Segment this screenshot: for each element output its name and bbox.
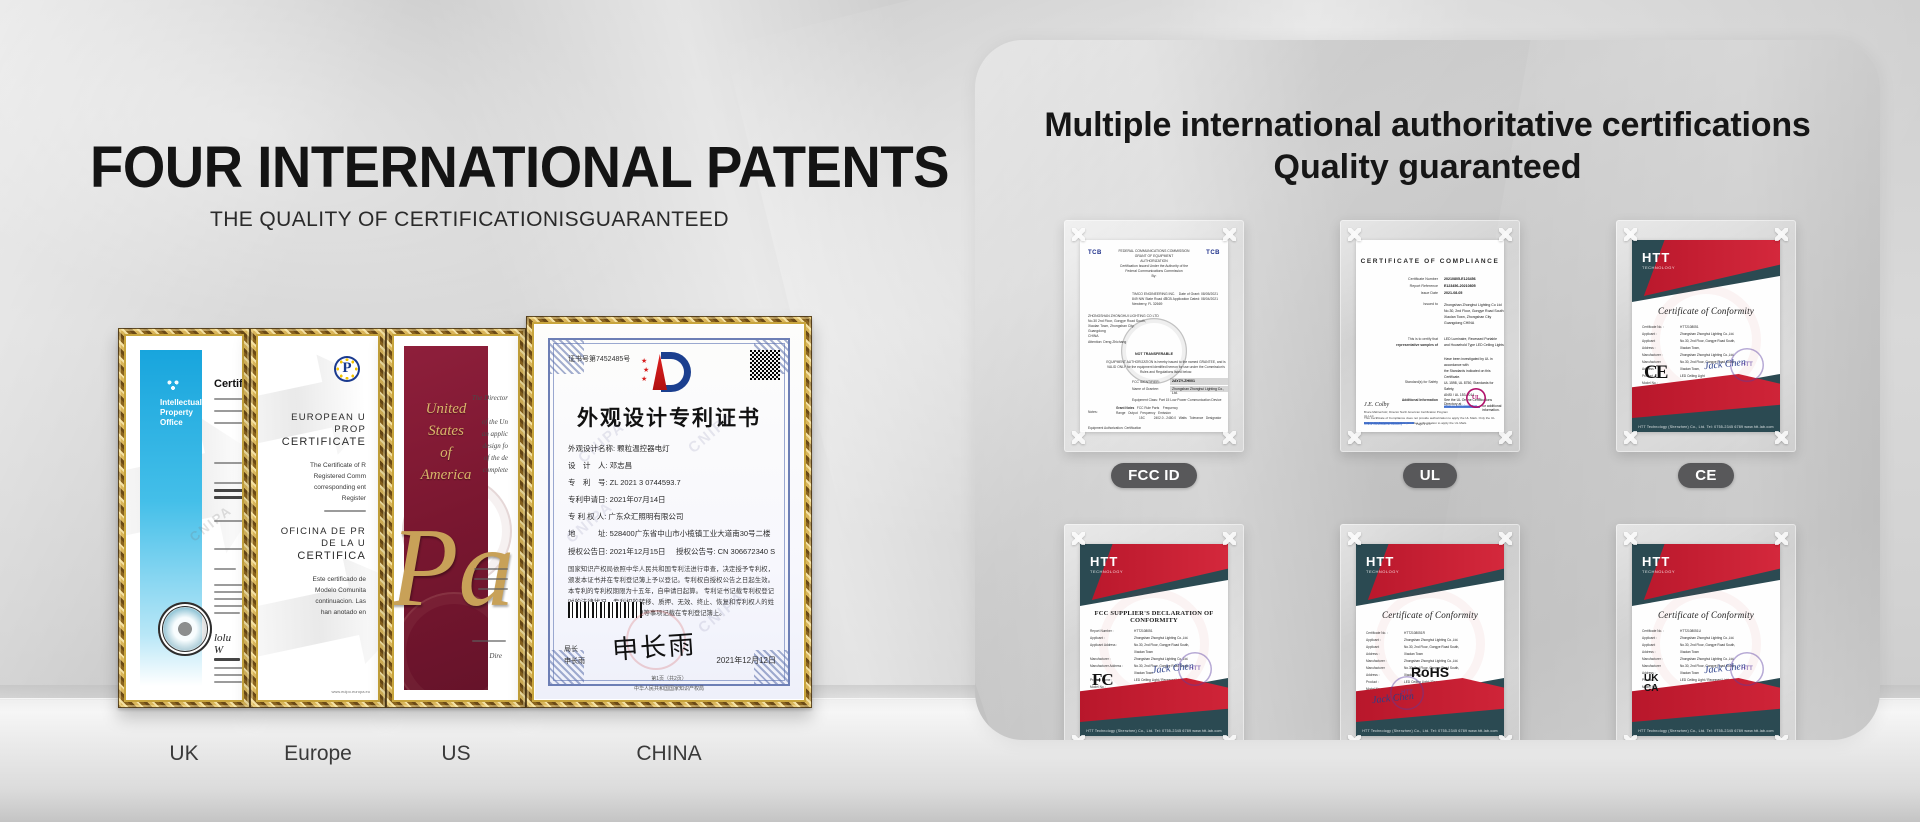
screw-icon: [1348, 228, 1361, 241]
uk-certificate-heading: Certificate of R: [214, 378, 242, 390]
acrylic-frame[interactable]: HTT TECHNOLOGY Certificate of Conformity…: [1616, 524, 1796, 740]
certifications-grid: TCB TCB FEDERAL COMMUNICATIONS COMMISSIO…: [1035, 220, 1825, 740]
uk-official-seal-icon: [158, 602, 212, 656]
tcb-doc-title: FEDERAL COMMUNICATIONS COMMISSIONGRANT O…: [1080, 249, 1228, 279]
screw-icon: [1072, 228, 1085, 241]
ukca-footer: HTT Technology (Shenzhen) Co., Ltd. Tel:…: [1632, 729, 1780, 733]
cn-grant-line: 授权公告日: 2021年12月15日 授权公告号: CN 306672340 S: [568, 546, 775, 557]
eu-heading-es-3: CERTIFICA: [297, 550, 366, 562]
eu-heading-en-1: EUROPEAN U: [291, 412, 366, 424]
cn-certificate-title: 外观设计专利证书: [534, 402, 804, 432]
screw-icon: [1624, 532, 1637, 545]
screw-icon: [1348, 735, 1361, 740]
fcc-mark-icon: FC: [1092, 670, 1113, 690]
screw-icon: [1624, 735, 1637, 740]
htt-logo-icon: HTT TECHNOLOGY: [1642, 554, 1675, 574]
eu-heading-es-1: OFICINA DE PR: [281, 526, 366, 538]
patent-frame-us[interactable]: United States of America Pa The Director…: [386, 328, 526, 708]
acrylic-frame[interactable]: HTT TECHNOLOGY FCC SUPPLIER'S DECLARATIO…: [1064, 524, 1244, 740]
fcc-official-seal-icon: [1121, 318, 1187, 384]
eu-heading-en-3: CERTIFICATE: [282, 436, 366, 448]
uk-office-label: Intellectual Property Office: [160, 398, 216, 428]
certificate-item-fcc[interactable]: HTT TECHNOLOGY FCC SUPPLIER'S DECLARATIO…: [1035, 524, 1273, 740]
rohs-mark-icon: RoHS: [1356, 664, 1504, 680]
ce-doc-title: Certificate of Conformity: [1632, 306, 1780, 316]
acrylic-frame[interactable]: HTT TECHNOLOGY Certificate of Conformity…: [1340, 524, 1520, 740]
screw-icon: [1499, 735, 1512, 740]
cn-certificate-number: 证书号第7452485号: [568, 354, 630, 364]
certificate-document-fcc: HTT TECHNOLOGY FCC SUPPLIER'S DECLARATIO…: [1080, 544, 1228, 736]
country-label-uk: UK: [118, 742, 250, 766]
htt-stamp-icon: [1178, 652, 1212, 686]
screw-icon: [1499, 431, 1512, 444]
cn-signature: 申长雨: [611, 624, 697, 667]
screw-icon: [1348, 431, 1361, 444]
patent-frame-uk[interactable]: Intellectual Property Office Certificate…: [118, 328, 250, 708]
screw-icon: [1499, 228, 1512, 241]
certificate-badge-ce: CE: [1678, 463, 1733, 488]
certificate-item-ukca[interactable]: HTT TECHNOLOGY Certificate of Conformity…: [1587, 524, 1825, 740]
certifications-heading-line1: Multiple international authoritative cer…: [975, 104, 1880, 146]
certificate-badge-ul: UL: [1403, 463, 1458, 488]
certificate-item-fcc-id[interactable]: TCB TCB FEDERAL COMMUNICATIONS COMMISSIO…: [1035, 220, 1273, 488]
screw-icon: [1223, 228, 1236, 241]
patents-subtitle: THE QUALITY OF CERTIFICATIONISGUARANTEED: [210, 208, 729, 232]
htt-logo-icon: HTT TECHNOLOGY: [1090, 554, 1123, 574]
certificate-item-ul[interactable]: CERTIFICATE OF COMPLIANCE Certificate Nu…: [1311, 220, 1549, 488]
patent-frame-china[interactable]: 证书号第7452485号 ★ ★ ★ 外观设计专利证书 外观设计名称: 颗粒温控…: [526, 316, 812, 708]
certificate-item-rohs[interactable]: HTT TECHNOLOGY Certificate of Conformity…: [1311, 524, 1549, 740]
us-right-text: The Director of the Unan applicdesign fo…: [462, 380, 508, 476]
screw-icon: [1775, 228, 1788, 241]
screw-icon: [1223, 735, 1236, 740]
screw-icon: [1072, 735, 1085, 740]
htt-logo-icon: HTT TECHNOLOGY: [1642, 250, 1675, 270]
ul-doc-title: CERTIFICATE OF COMPLIANCE: [1356, 258, 1504, 265]
ukca-doc-title: Certificate of Conformity: [1632, 610, 1780, 620]
screw-icon: [1072, 532, 1085, 545]
cn-barcode: [568, 602, 642, 618]
patent-frame-europe[interactable]: P EUROPEAN U PROP CERTIFICATE The Certif…: [250, 328, 386, 708]
cn-office-line: 中华人民共和国国家知识产权局: [534, 685, 804, 692]
ul-logo-icon: [1466, 388, 1486, 408]
fcc-footer: HTT Technology (Shenzhen) Co., Ltd. Tel:…: [1080, 729, 1228, 733]
eu-body-en: The Certificate of RRegistered Commcorre…: [258, 460, 366, 504]
htt-logo-icon: HTT TECHNOLOGY: [1366, 554, 1399, 574]
cnipa-logo-icon: ★ ★ ★: [641, 352, 697, 392]
rohs-doc-title: Certificate of Conformity: [1356, 610, 1504, 620]
euipo-logo-icon: P: [334, 356, 360, 382]
acrylic-frame[interactable]: TCB TCB FEDERAL COMMUNICATIONS COMMISSIO…: [1064, 220, 1244, 452]
uk-ipo-band: Intellectual Property Office: [140, 350, 202, 686]
screw-icon: [1624, 431, 1637, 444]
htt-stamp-icon: [1730, 652, 1764, 686]
eu-heading-es-2: DE LA U: [321, 538, 366, 550]
country-label-europe: Europe: [250, 742, 386, 766]
ce-mark-icon: CE: [1644, 362, 1666, 384]
country-label-us: US: [386, 742, 526, 766]
patents-section: FOUR INTERNATIONAL PATENTS THE QUALITY O…: [0, 0, 960, 822]
patent-document-uk: Intellectual Property Office Certificate…: [126, 336, 242, 700]
rohs-footer: HTT Technology (Shenzhen) Co., Ltd. Tel:…: [1356, 729, 1504, 733]
htt-stamp-icon: [1730, 348, 1764, 382]
certificate-document-rohs: HTT TECHNOLOGY Certificate of Conformity…: [1356, 544, 1504, 736]
eu-body-es: Este certificado deModelo Comunitacontin…: [258, 574, 366, 618]
tcb-meta-block: Date of Grant: 08/05/2021TCB Application…: [1165, 292, 1218, 302]
patent-document-us: United States of America Pa The Director…: [394, 336, 518, 700]
screw-icon: [1624, 228, 1637, 241]
certificate-item-ce[interactable]: HTT TECHNOLOGY Certificate of Conformity…: [1587, 220, 1825, 488]
patent-document-europe: P EUROPEAN U PROP CERTIFICATE The Certif…: [258, 336, 378, 700]
screw-icon: [1072, 431, 1085, 444]
patents-title: FOUR INTERNATIONAL PATENTS: [90, 134, 949, 201]
screw-icon: [1223, 431, 1236, 444]
cn-issue-date: 2021年12月12日: [716, 655, 776, 666]
certifications-panel: Multiple international authoritative cer…: [975, 40, 1880, 740]
certificate-document-ukca: HTT TECHNOLOGY Certificate of Conformity…: [1632, 544, 1780, 736]
uk-crest-icon: [164, 376, 182, 392]
ukca-mark-icon: UK CA: [1644, 674, 1658, 694]
screw-icon: [1348, 532, 1361, 545]
screw-icon: [1775, 431, 1788, 444]
patent-frame-row: Intellectual Property Office Certificate…: [118, 316, 812, 708]
screw-icon: [1775, 735, 1788, 740]
screw-icon: [1499, 532, 1512, 545]
certificate-document-ul: CERTIFICATE OF COMPLIANCE Certificate Nu…: [1356, 240, 1504, 432]
ce-footer: HTT Technology (Shenzhen) Co., Ltd. Tel:…: [1632, 425, 1780, 429]
screw-icon: [1223, 532, 1236, 545]
cn-qr-code: [750, 350, 780, 380]
certificate-document-ce: HTT TECHNOLOGY Certificate of Conformity…: [1632, 240, 1780, 432]
acrylic-frame[interactable]: HTT TECHNOLOGY Certificate of Conformity…: [1616, 220, 1796, 452]
acrylic-frame[interactable]: CERTIFICATE OF COMPLIANCE Certificate Nu…: [1340, 220, 1520, 452]
certificate-document-fcc-id: TCB TCB FEDERAL COMMUNICATIONS COMMISSIO…: [1080, 240, 1228, 432]
certificate-badge-fcc-id: FCC ID: [1111, 463, 1197, 488]
patent-document-china: 证书号第7452485号 ★ ★ ★ 外观设计专利证书 外观设计名称: 颗粒温控…: [534, 324, 804, 700]
country-label-china: CHINA: [526, 742, 812, 766]
certifications-heading: Multiple international authoritative cer…: [975, 104, 1880, 188]
certifications-heading-line2: Quality guaranteed: [975, 146, 1880, 188]
screw-icon: [1775, 532, 1788, 545]
fcc-doc-title: FCC SUPPLIER'S DECLARATION OF CONFORMITY: [1080, 610, 1228, 624]
eu-heading-en-2: PROP: [334, 424, 366, 436]
htt-stamp-icon: [1390, 676, 1424, 710]
